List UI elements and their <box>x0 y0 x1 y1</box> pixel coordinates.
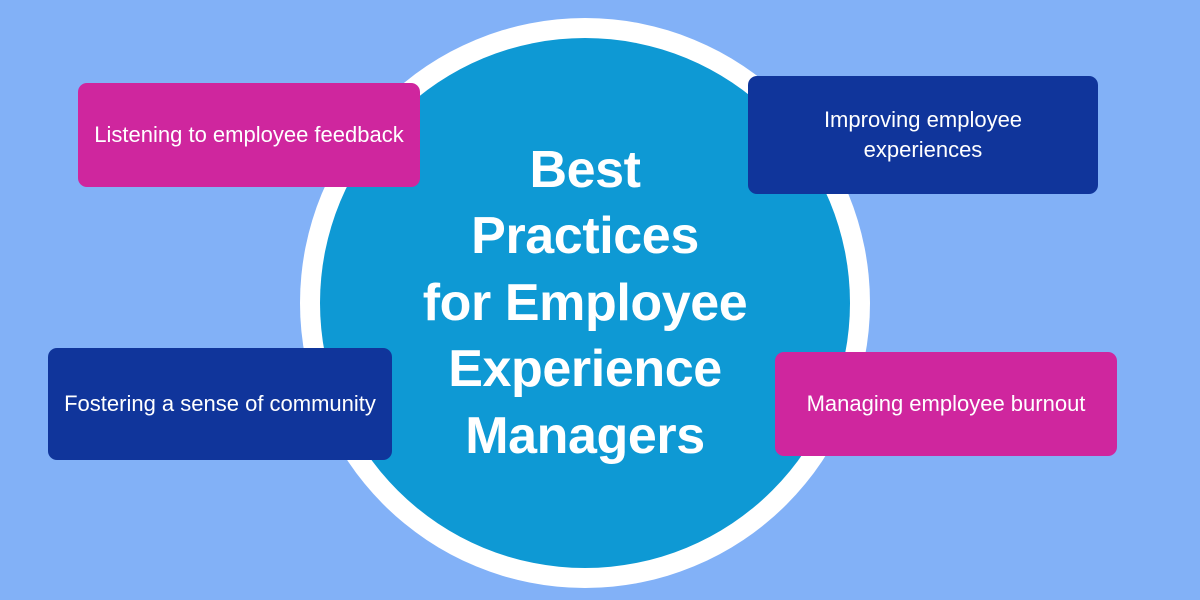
practice-box-fostering-a-sense-of-community[interactable]: Fostering a sense of community <box>48 348 392 460</box>
practice-box-managing-employee-burnout[interactable]: Managing employee burnout <box>775 352 1117 456</box>
practice-box-improving-employee-experiences[interactable]: Improving employee experiences <box>748 76 1098 194</box>
infographic-canvas: Best Practices for Employee Experience M… <box>0 0 1200 600</box>
practice-box-listening-to-employee-feedback[interactable]: Listening to employee feedback <box>78 83 420 187</box>
practice-label: Fostering a sense of community <box>64 389 376 419</box>
page-title: Best Practices for Employee Experience M… <box>423 137 748 470</box>
practice-label: Improving employee experiences <box>764 105 1082 166</box>
practice-label: Managing employee burnout <box>807 389 1086 419</box>
practice-label: Listening to employee feedback <box>94 120 403 150</box>
